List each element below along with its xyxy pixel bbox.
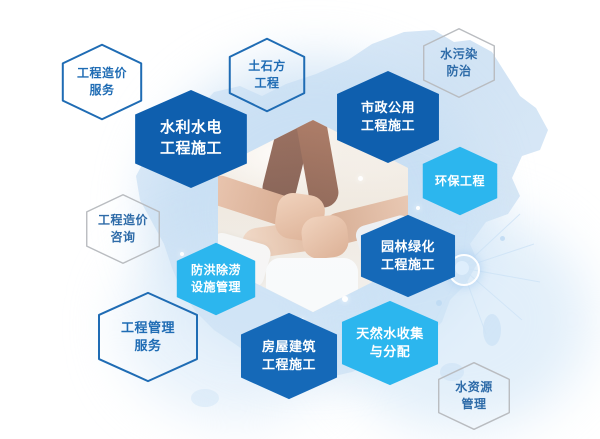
hexagon-label: 天然水收集 与分配 (356, 325, 424, 361)
hexagon-label: 工程造价 服务 (77, 65, 127, 98)
hexagon-label: 水资源 管理 (455, 379, 493, 412)
hexagon-label: 园林绿化 工程施工 (381, 238, 435, 274)
network-node-core (455, 261, 469, 275)
hexagon-label: 防洪除涝 设施管理 (191, 262, 241, 295)
hex-landscaping-engineering-construction[interactable]: 园林绿化 工程施工 (360, 214, 456, 298)
hexagon-label: 房屋建筑 工程施工 (262, 338, 316, 374)
hex-engineering-cost-consulting[interactable]: 工程造价 咨询 (86, 194, 160, 264)
sparkle-dot (500, 236, 505, 241)
hexagon-label: 水利水电 工程施工 (160, 118, 222, 159)
hex-water-conservancy-hydropower-construction[interactable]: 水利水电 工程施工 (134, 89, 248, 189)
hexagon-label: 土石方 工程 (248, 58, 286, 91)
hexagon-label: 水污染 防治 (440, 46, 478, 79)
infographic-canvas: 工程造价 服务土石方 工程水污染 防治水利水电 工程施工市政公用 工程施工环保工… (0, 0, 600, 439)
hex-building-construction[interactable]: 房屋建筑 工程施工 (240, 312, 338, 400)
hex-water-resources-management[interactable]: 水资源 管理 (438, 362, 510, 430)
hexagon-label: 市政公用 工程施工 (361, 99, 415, 135)
hexagon-label: 工程造价 咨询 (98, 212, 148, 245)
hexagon-label: 工程管理 服务 (121, 319, 175, 355)
hex-natural-water-collection-distribution[interactable]: 天然水收集 与分配 (341, 300, 439, 386)
hex-engineering-management-service[interactable]: 工程管理 服务 (98, 292, 198, 382)
hex-environmental-protection-engineering[interactable]: 环保工程 (422, 146, 498, 216)
hexagon-label: 环保工程 (435, 173, 485, 190)
sparkle-dot (416, 206, 420, 210)
hex-engineering-cost-service[interactable]: 工程造价 服务 (62, 44, 142, 120)
sparkle-dot (358, 176, 363, 181)
